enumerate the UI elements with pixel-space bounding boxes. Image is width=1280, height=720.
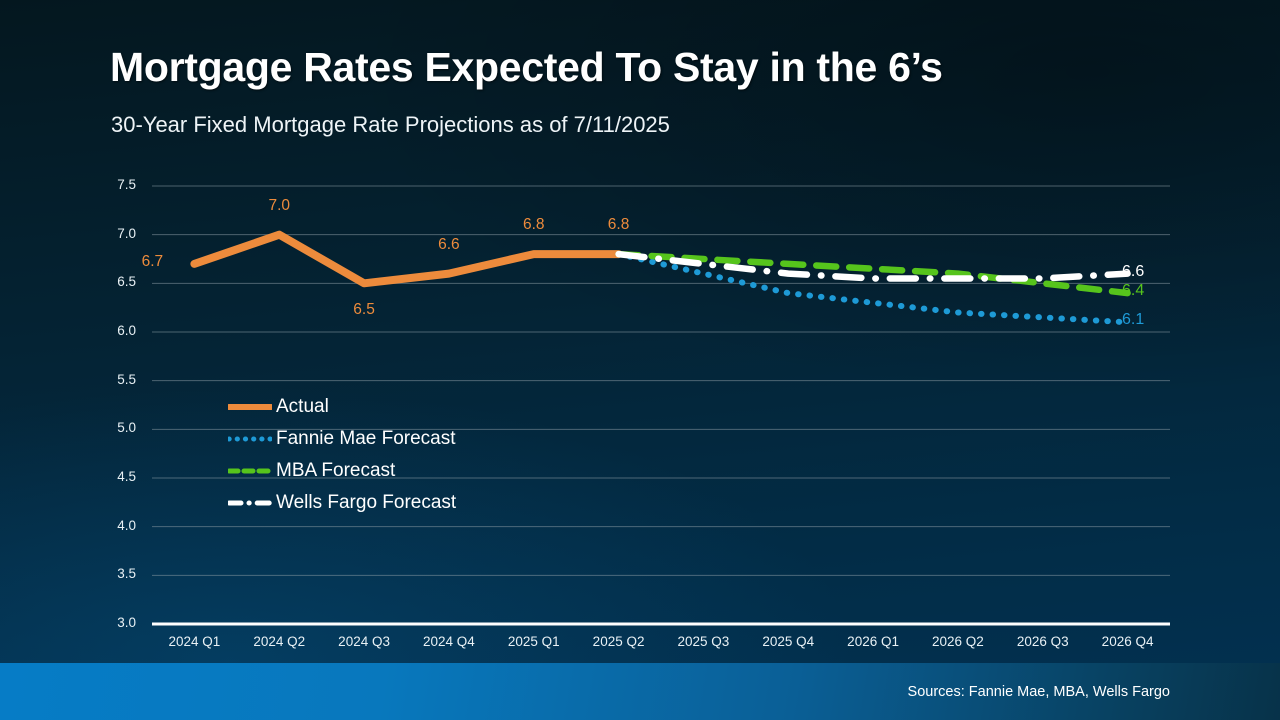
legend-label-actual: Actual	[276, 396, 329, 418]
series-end-label: 6.6	[1122, 263, 1144, 281]
x-axis-tick-label: 2026 Q4	[1102, 634, 1154, 649]
legend-label-wells-fargo: Wells Fargo Forecast	[276, 492, 456, 514]
y-axis-tick-label: 3.5	[96, 566, 136, 581]
y-axis-tick-label: 7.5	[96, 177, 136, 192]
legend-item-fannie-mae[interactable]: Fannie Mae Forecast	[228, 423, 456, 455]
data-point-label: 6.8	[523, 216, 545, 234]
x-axis-tick-label: 2025 Q2	[593, 634, 645, 649]
data-point-label: 6.6	[438, 236, 460, 254]
x-axis-tick-label: 2024 Q2	[253, 634, 305, 649]
x-axis-tick-label: 2024 Q4	[423, 634, 475, 649]
x-axis-tick-label: 2025 Q4	[762, 634, 814, 649]
x-axis-tick-label: 2026 Q2	[932, 634, 984, 649]
legend-key-mba	[228, 464, 272, 478]
series-line	[194, 235, 618, 284]
y-axis-tick-label: 5.0	[96, 420, 136, 435]
line-chart: 3.03.54.04.55.05.56.06.57.07.52024 Q1202…	[0, 0, 1280, 720]
series-end-label: 6.4	[1122, 282, 1144, 300]
legend-label-mba: MBA Forecast	[276, 460, 395, 482]
y-axis-tick-label: 4.0	[96, 518, 136, 533]
x-axis-tick-label: 2025 Q3	[678, 634, 730, 649]
legend-key-fannie-mae	[228, 432, 272, 446]
legend-label-fannie-mae: Fannie Mae Forecast	[276, 428, 456, 450]
legend-key-wells-fargo	[228, 496, 272, 510]
legend-item-mba[interactable]: MBA Forecast	[228, 455, 456, 487]
series-end-label: 6.1	[1122, 311, 1144, 329]
legend-key-actual	[228, 400, 272, 414]
sources-note: Sources: Fannie Mae, MBA, Wells Fargo	[908, 684, 1170, 700]
data-point-label: 6.7	[142, 253, 164, 271]
legend-item-wells-fargo[interactable]: Wells Fargo Forecast	[228, 487, 456, 519]
y-axis-tick-label: 5.5	[96, 372, 136, 387]
x-axis-tick-label: 2025 Q1	[508, 634, 560, 649]
y-axis-tick-label: 6.0	[96, 323, 136, 338]
data-point-label: 6.8	[608, 216, 630, 234]
data-point-label: 7.0	[268, 197, 290, 215]
x-axis-tick-label: 2026 Q1	[847, 634, 899, 649]
y-axis-tick-label: 7.0	[96, 226, 136, 241]
slide-canvas: Mortgage Rates Expected To Stay in the 6…	[0, 0, 1280, 720]
x-axis-tick-label: 2026 Q3	[1017, 634, 1069, 649]
y-axis-tick-label: 4.5	[96, 469, 136, 484]
y-axis-tick-label: 6.5	[96, 274, 136, 289]
data-point-label: 6.5	[353, 301, 375, 319]
x-axis-tick-label: 2024 Q3	[338, 634, 390, 649]
chart-legend: Actual Fannie Mae Forecast MBA Forecast …	[228, 391, 456, 519]
legend-item-actual[interactable]: Actual	[228, 391, 456, 423]
chart-svg	[0, 0, 1280, 720]
x-axis-tick-label: 2024 Q1	[169, 634, 221, 649]
y-axis-tick-label: 3.0	[96, 615, 136, 630]
